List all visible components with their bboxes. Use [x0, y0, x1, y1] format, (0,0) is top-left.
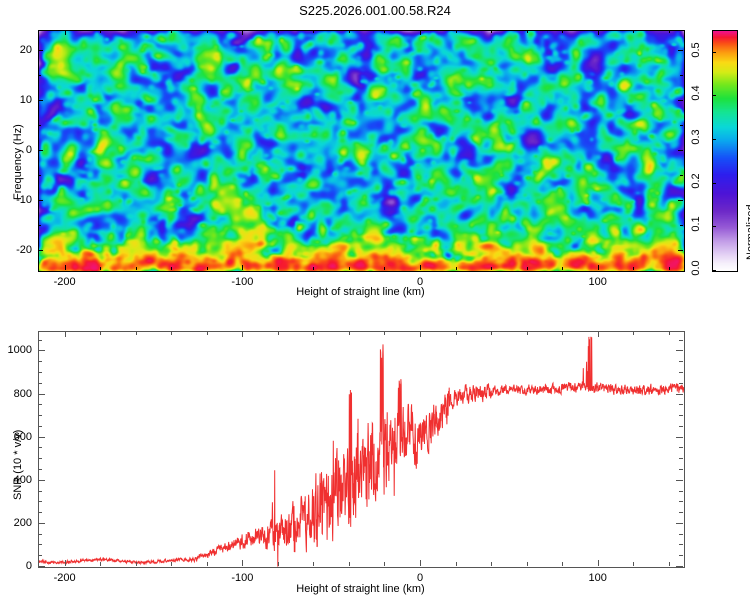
axis-tick — [384, 30, 385, 33]
axis-tick — [38, 175, 41, 176]
axis-tick — [491, 331, 492, 335]
axis-tick — [456, 30, 457, 33]
axis-tick — [136, 562, 137, 566]
spectrogram-y-axis-title: Frequency (Hz) — [12, 124, 24, 200]
axis-tick — [278, 562, 279, 566]
axis-tick — [38, 350, 45, 351]
axis-tick — [456, 331, 457, 335]
axis-tick — [598, 265, 599, 270]
axis-tick — [349, 267, 350, 270]
axis-tick — [679, 512, 683, 513]
axis-tick — [38, 225, 41, 226]
axis-tick — [38, 469, 42, 470]
axis-tick — [712, 52, 716, 53]
axis-tick — [598, 30, 599, 35]
colorbar-tick-label: 0.5 — [690, 40, 702, 60]
axis-tick — [136, 30, 137, 33]
axis-tick — [38, 394, 45, 395]
colorbar-tick-label: 0.1 — [690, 214, 702, 234]
axis-tick — [633, 562, 634, 566]
axis-tick — [678, 150, 683, 151]
axis-tick — [420, 30, 421, 35]
axis-tick — [527, 562, 528, 566]
axis-tick — [38, 512, 42, 513]
axis-tick — [100, 30, 101, 33]
axis-tick — [242, 560, 243, 566]
snr-y-axis-title: SNR (10 * v/v) — [12, 430, 24, 500]
snr-y-tick-label: 0 — [4, 560, 32, 572]
axis-tick — [38, 200, 43, 201]
axis-tick — [679, 469, 683, 470]
axis-tick — [420, 560, 421, 566]
axis-tick — [100, 267, 101, 270]
axis-tick — [207, 331, 208, 335]
axis-tick — [527, 30, 528, 33]
axis-tick — [491, 30, 492, 33]
axis-tick — [633, 267, 634, 270]
axis-tick — [384, 331, 385, 335]
axis-tick — [38, 447, 42, 448]
axis-tick — [679, 534, 683, 535]
axis-tick — [633, 30, 634, 33]
axis-tick — [38, 75, 41, 76]
snr-x-axis-title: Height of straight line (km) — [38, 583, 683, 595]
axis-tick — [679, 415, 683, 416]
axis-tick — [38, 340, 42, 341]
spectrogram-x-axis-title: Height of straight line (km) — [38, 286, 683, 298]
axis-tick — [100, 331, 101, 335]
axis-tick — [679, 426, 683, 427]
snr-line-svg — [39, 332, 684, 567]
figure-title: S225.2026.001.00.58.R24 — [0, 4, 750, 17]
axis-tick — [65, 331, 66, 337]
axis-tick — [207, 267, 208, 270]
axis-tick — [38, 426, 42, 427]
axis-tick — [349, 331, 350, 335]
axis-tick — [349, 30, 350, 33]
axis-tick — [100, 562, 101, 566]
axis-tick — [679, 447, 683, 448]
axis-tick — [456, 562, 457, 566]
spectrogram-y-tick-label: 10 — [6, 94, 32, 106]
axis-tick — [38, 523, 45, 524]
axis-tick — [669, 267, 670, 270]
axis-tick — [676, 480, 683, 481]
axis-tick — [712, 139, 716, 140]
axis-tick — [38, 555, 42, 556]
axis-tick — [678, 200, 683, 201]
axis-tick — [242, 30, 243, 35]
axis-tick — [171, 30, 172, 33]
axis-tick — [680, 75, 683, 76]
axis-tick — [712, 183, 716, 184]
axis-tick — [679, 555, 683, 556]
axis-tick — [598, 560, 599, 566]
axis-tick — [676, 437, 683, 438]
axis-tick — [278, 267, 279, 270]
axis-tick — [136, 267, 137, 270]
spectrogram-y-tick-label: -20 — [6, 244, 32, 256]
axis-tick — [313, 331, 314, 335]
axis-tick — [313, 267, 314, 270]
axis-tick — [38, 501, 42, 502]
axis-tick — [679, 340, 683, 341]
colorbar-gradient — [713, 31, 737, 271]
axis-tick — [679, 372, 683, 373]
axis-tick — [679, 458, 683, 459]
spectrogram-plot-area — [38, 30, 685, 272]
axis-tick — [136, 331, 137, 335]
axis-tick — [678, 100, 683, 101]
snr-y-tick-label: 1000 — [4, 344, 32, 356]
axis-tick — [384, 267, 385, 270]
axis-tick — [38, 534, 42, 535]
axis-tick — [669, 331, 670, 335]
axis-tick — [679, 383, 683, 384]
colorbar-tick-label: 0.0 — [690, 258, 702, 278]
spectrogram-y-tick-label: 20 — [6, 44, 32, 56]
axis-tick — [65, 560, 66, 566]
snr-y-tick-label: 800 — [4, 388, 32, 400]
colorbar-tick-label: 0.2 — [690, 171, 702, 191]
colorbar-tick-label: 0.4 — [690, 83, 702, 103]
colorbar — [712, 30, 738, 272]
axis-tick — [420, 265, 421, 270]
axis-tick — [669, 30, 670, 33]
axis-tick — [38, 361, 42, 362]
axis-tick — [680, 225, 683, 226]
axis-tick — [242, 265, 243, 270]
axis-tick — [679, 404, 683, 405]
axis-tick — [207, 562, 208, 566]
axis-tick — [207, 30, 208, 33]
axis-tick — [527, 267, 528, 270]
axis-tick — [38, 458, 42, 459]
axis-tick — [171, 331, 172, 335]
axis-tick — [527, 331, 528, 335]
axis-tick — [38, 372, 42, 373]
axis-tick — [313, 30, 314, 33]
axis-tick — [65, 265, 66, 270]
axis-tick — [38, 415, 42, 416]
axis-tick — [38, 250, 43, 251]
axis-tick — [491, 267, 492, 270]
axis-tick — [38, 404, 42, 405]
colorbar-title: Normalized spectral amplitude — [745, 204, 750, 260]
axis-tick — [65, 30, 66, 35]
axis-tick — [38, 383, 42, 384]
snr-y-tick-label: 200 — [4, 517, 32, 529]
axis-tick — [562, 267, 563, 270]
axis-tick — [679, 491, 683, 492]
axis-tick — [633, 331, 634, 335]
axis-tick — [349, 562, 350, 566]
axis-tick — [712, 95, 716, 96]
axis-tick — [669, 562, 670, 566]
axis-tick — [598, 331, 599, 337]
axis-tick — [562, 30, 563, 33]
axis-tick — [242, 331, 243, 337]
axis-tick — [38, 491, 42, 492]
axis-tick — [278, 30, 279, 33]
figure-root: S225.2026.001.00.58.R24 -200-1000100-20-… — [0, 0, 750, 600]
axis-tick — [38, 50, 43, 51]
axis-tick — [676, 566, 683, 567]
axis-tick — [456, 267, 457, 270]
axis-tick — [313, 562, 314, 566]
axis-tick — [676, 394, 683, 395]
axis-tick — [679, 544, 683, 545]
axis-tick — [712, 226, 716, 227]
axis-tick — [171, 562, 172, 566]
axis-tick — [562, 562, 563, 566]
snr-plot-area — [38, 331, 685, 568]
axis-tick — [678, 50, 683, 51]
axis-tick — [38, 125, 41, 126]
axis-tick — [420, 331, 421, 337]
axis-tick — [278, 331, 279, 335]
axis-tick — [676, 350, 683, 351]
axis-tick — [38, 100, 43, 101]
axis-tick — [38, 480, 45, 481]
axis-tick — [384, 562, 385, 566]
axis-tick — [680, 175, 683, 176]
axis-tick — [676, 523, 683, 524]
axis-tick — [680, 125, 683, 126]
axis-tick — [678, 250, 683, 251]
axis-tick — [38, 544, 42, 545]
axis-tick — [38, 437, 45, 438]
axis-tick — [562, 331, 563, 335]
axis-tick — [712, 270, 716, 271]
axis-tick — [679, 501, 683, 502]
colorbar-tick-label: 0.3 — [690, 127, 702, 147]
axis-tick — [38, 150, 43, 151]
axis-tick — [679, 361, 683, 362]
spectrogram-canvas — [39, 31, 684, 271]
axis-tick — [171, 267, 172, 270]
axis-tick — [491, 562, 492, 566]
axis-tick — [38, 566, 45, 567]
snr-series-line — [39, 337, 684, 567]
